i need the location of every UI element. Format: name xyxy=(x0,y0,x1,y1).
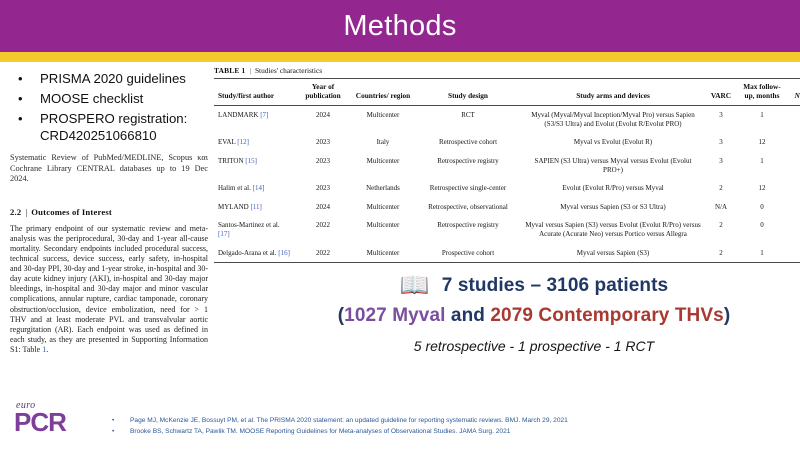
methods-bullet-list: • PRISMA 2020 guidelines • MOOSE checkli… xyxy=(0,64,214,144)
table-body: LANDMARK [7] 2024 Multicenter RCT Myval … xyxy=(214,106,800,263)
bullet-text: PRISMA 2020 guidelines xyxy=(40,71,186,86)
cell-arms: Myval versus Sapien (S3) versus Evolut (… xyxy=(522,216,704,243)
cell-followup: 0 xyxy=(738,216,786,243)
cell-region: Multicenter xyxy=(352,216,414,243)
book-icon: 📖 xyxy=(400,274,430,298)
list-item: • Page MJ, McKenzie JE, Bossuyt PM, et a… xyxy=(108,415,728,426)
table-caption-text: Studies' characteristics xyxy=(255,66,322,75)
cell-region: Multicenter xyxy=(352,106,414,134)
bullet-dot-icon: • xyxy=(18,90,23,107)
outcomes-section-body: The primary endpoint of our systematic r… xyxy=(10,224,208,355)
cell-design: Retrospective registry xyxy=(414,152,522,179)
summary-paren-close: ) xyxy=(724,305,730,326)
slide-header: Methods xyxy=(0,0,800,52)
cell-year: 2023 xyxy=(294,152,352,179)
list-item: • PRISMA 2020 guidelines xyxy=(14,70,210,87)
summary-thv-count: 2079 Contemporary THVs xyxy=(490,305,723,326)
cell-design: Retrospective registry xyxy=(414,216,522,243)
section-number: 2.2 xyxy=(10,207,21,217)
europcr-logo: euro PCR xyxy=(14,400,100,434)
bullet-dot-icon: • xyxy=(112,415,114,426)
cell-arms: SAPIEN (S3 Ultra) versus Myval versus Ev… xyxy=(522,152,704,179)
cell-year: 2022 xyxy=(294,216,352,243)
summary-myval-count: 1027 Myval xyxy=(344,305,445,326)
cell-region: Multicenter xyxy=(352,244,414,263)
column-header-varc: VARC xyxy=(704,79,738,106)
table-row: EVAL [12] 2023 Italy Retrospective cohor… xyxy=(214,133,800,152)
summary-and: and xyxy=(446,305,491,326)
footer-references: • Page MJ, McKenzie JE, Bossuyt PM, et a… xyxy=(108,415,728,437)
cell-followup: 1 xyxy=(738,244,786,263)
cell-author: MYLAND [11] xyxy=(214,198,294,217)
cell-author: Santos-Martinez et al. [17] xyxy=(214,216,294,243)
cell-arms: Myval (Myval/Myval Inception/Myval Pro) … xyxy=(522,106,704,134)
section-separator: | xyxy=(21,207,31,217)
cell-author-ref[interactable]: [15] xyxy=(245,157,257,165)
cell-followup: 0 xyxy=(738,198,786,217)
cell-year: 2024 xyxy=(294,198,352,217)
studies-table: Study/first author Year of publication C… xyxy=(214,78,800,263)
cell-design: Retrospective, observational xyxy=(414,198,522,217)
cell-author-text: Delgado-Arana et al. xyxy=(218,249,277,257)
table-header-row: Study/first author Year of publication C… xyxy=(214,79,800,106)
logo-pcr-text: PCR xyxy=(14,410,100,434)
cell-author-ref[interactable]: [16] xyxy=(278,249,290,257)
cell-varc: 3 xyxy=(704,152,738,179)
list-item: • PROSPERO registration: CRD420251066810 xyxy=(14,110,210,144)
reference-text: Brooke BS, Schwartz TA, Pawlik TM. MOOSE… xyxy=(130,428,510,435)
cell-followup: 12 xyxy=(738,133,786,152)
cell-design: Retrospective single-center xyxy=(414,179,522,198)
cell-author-ref[interactable]: [11] xyxy=(250,203,261,211)
bullet-text: PROSPERO registration: xyxy=(40,111,187,126)
cell-followup: 1 xyxy=(738,106,786,134)
table-row: Halim et al. [14] 2023 Netherlands Retro… xyxy=(214,179,800,198)
cell-participants: 402 xyxy=(786,198,800,217)
cell-author-text: Halim et al. xyxy=(218,184,251,192)
cell-region: Multicenter xyxy=(352,198,414,217)
table-row: LANDMARK [7] 2024 Multicenter RCT Myval … xyxy=(214,106,800,134)
cell-author-text: EVAL xyxy=(218,138,236,146)
column-header-arms: Study arms and devices xyxy=(522,79,704,106)
reference-text: Page MJ, McKenzie JE, Bossuyt PM, et al.… xyxy=(130,417,568,424)
column-header-year: Year of publication xyxy=(294,79,352,106)
bullet-dot-icon: • xyxy=(112,426,114,437)
cell-participants: 768 xyxy=(786,106,800,134)
cell-arms: Myval versus Sapien (S3 or S3 Ultra) xyxy=(522,198,704,217)
column-header-design: Study design xyxy=(414,79,522,106)
summary-callout: 📖 7 studies – 3106 patients (1027 Myval … xyxy=(272,274,796,354)
cell-arms: Myval versus Sapien (S3) xyxy=(522,244,704,263)
summary-line-breakdown: (1027 Myval and 2079 Contemporary THVs) xyxy=(272,305,796,327)
table-row: TRITON [15] 2023 Multicenter Retrospecti… xyxy=(214,152,800,179)
cell-varc: N/A xyxy=(704,198,738,217)
bullet-text: MOOSE checklist xyxy=(40,91,143,106)
bullet-text-continuation: CRD420251066810 xyxy=(40,127,210,144)
summary-studies-text: 7 studies – 3106 patients xyxy=(442,275,668,297)
section-heading-text: Outcomes of Interest xyxy=(31,207,112,217)
table-caption-separator: | xyxy=(245,66,254,75)
cell-arms: Evolut (Evolut R/Pro) versus Myval xyxy=(522,179,704,198)
header-accent-bar xyxy=(0,52,800,62)
summary-line-studies: 📖 7 studies – 3106 patients xyxy=(272,274,796,298)
cell-author-ref[interactable]: [17] xyxy=(218,230,230,238)
cell-year: 2023 xyxy=(294,179,352,198)
cell-author-ref[interactable]: [14] xyxy=(253,184,265,192)
table-caption: TABLE 1|Studies' characteristics xyxy=(214,66,800,78)
cell-followup: 12 xyxy=(738,179,786,198)
cell-author-text: LANDMARK xyxy=(218,111,258,119)
cell-region: Italy xyxy=(352,133,414,152)
cell-varc: 3 xyxy=(704,133,738,152)
cell-participants: 1131 xyxy=(786,216,800,243)
cell-participants: 416 xyxy=(786,244,800,263)
cell-region: Multicenter xyxy=(352,152,414,179)
cell-region: Netherlands xyxy=(352,179,414,198)
table-row: MYLAND [11] 2024 Multicenter Retrospecti… xyxy=(214,198,800,217)
cell-author-ref[interactable]: [12] xyxy=(237,138,249,146)
cell-author: Halim et al. [14] xyxy=(214,179,294,198)
cell-varc: 2 xyxy=(704,244,738,263)
bullet-dot-icon: • xyxy=(18,110,23,127)
cell-author-text: MYLAND xyxy=(218,203,249,211)
cell-varc: 3 xyxy=(704,106,738,134)
bullet-dot-icon: • xyxy=(18,70,23,87)
cell-varc: 2 xyxy=(704,216,738,243)
cell-author: Delgado-Arana et al. [16] xyxy=(214,244,294,263)
left-column: • PRISMA 2020 guidelines • MOOSE checkli… xyxy=(0,64,214,394)
cell-followup: 1 xyxy=(738,152,786,179)
cell-year: 2023 xyxy=(294,133,352,152)
cell-author-text: Santos-Martinez et al. xyxy=(218,221,280,229)
cell-author: TRITON [15] xyxy=(214,152,294,179)
cell-year: 2022 xyxy=(294,244,352,263)
cell-author-ref[interactable]: [7] xyxy=(260,111,268,119)
cell-varc: 2 xyxy=(704,179,738,198)
cell-participants: 166 xyxy=(786,133,800,152)
cell-participants: 360 xyxy=(786,152,800,179)
cell-year: 2024 xyxy=(294,106,352,134)
cell-author: LANDMARK [7] xyxy=(214,106,294,134)
outcomes-body-text: The primary endpoint of our systematic r… xyxy=(10,224,208,354)
list-item: • MOOSE checklist xyxy=(14,90,210,107)
outcomes-section-heading: 2.2|Outcomes of Interest xyxy=(10,207,208,217)
table-row: Santos-Martinez et al. [17] 2022 Multice… xyxy=(214,216,800,243)
table-label: TABLE 1 xyxy=(214,66,245,75)
table-row: Delgado-Arana et al. [16] 2022 Multicent… xyxy=(214,244,800,263)
summary-study-design-mix: 5 retrospective - 1 prospective - 1 RCT xyxy=(272,338,796,354)
table-header: Study/first author Year of publication C… xyxy=(214,79,800,106)
column-header-author: Study/first author xyxy=(214,79,294,106)
cell-design: RCT xyxy=(414,106,522,134)
cell-author-text: TRITON xyxy=(218,157,244,165)
cell-author: EVAL [12] xyxy=(214,133,294,152)
list-item: • Brooke BS, Schwartz TA, Pawlik TM. MOO… xyxy=(108,426,728,437)
studies-table-container: TABLE 1|Studies' characteristics Study/f… xyxy=(214,66,800,263)
cell-design: Prospective cohort xyxy=(414,244,522,263)
column-header-followup: Max follow-up, months xyxy=(738,79,786,106)
search-scope-note: Systematic Review of PubMed/MEDLINE, Sco… xyxy=(10,153,208,185)
outcomes-body-tail: . xyxy=(46,345,48,354)
slide-footer: euro PCR • Page MJ, McKenzie JE, Bossuyt… xyxy=(0,398,800,450)
cell-design: Retrospective cohort xyxy=(414,133,522,152)
cell-arms: Myval vs Evolut (Evolut R) xyxy=(522,133,704,152)
page-title: Methods xyxy=(343,10,456,43)
cell-participants: 223 xyxy=(786,179,800,198)
column-header-participants: N of participants xyxy=(786,79,800,106)
column-header-region: Countries/ region xyxy=(352,79,414,106)
